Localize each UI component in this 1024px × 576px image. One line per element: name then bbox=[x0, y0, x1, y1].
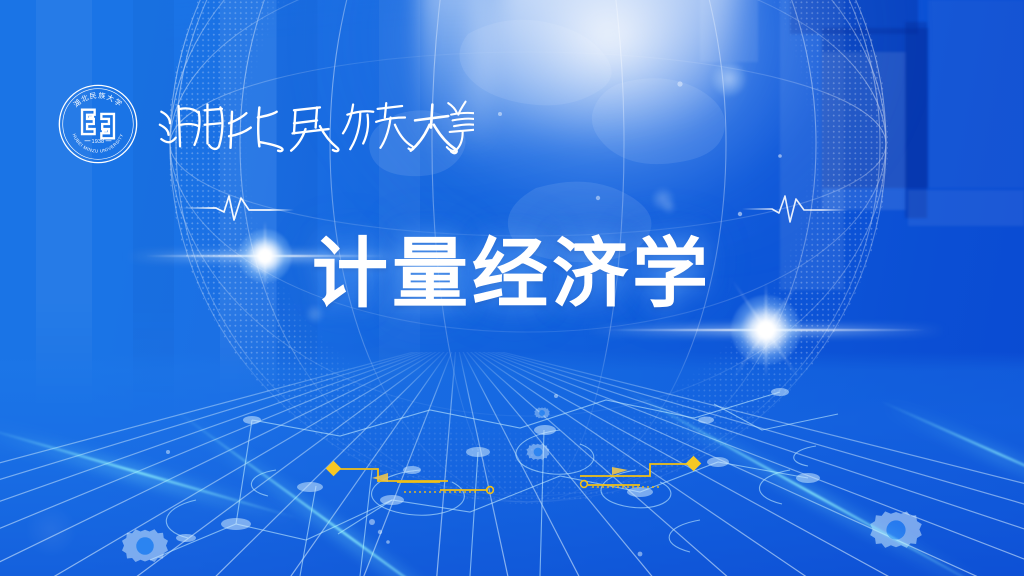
svg-text:1938: 1938 bbox=[92, 139, 105, 145]
perspective-grid-floor bbox=[0, 352, 1024, 576]
university-brand-header: 湖北民族大学 HUBEI MINZU UNIVERSITY 1938 bbox=[56, 82, 474, 166]
crest-top-arc-text: 湖北民族大学 bbox=[71, 91, 124, 109]
title-slide: 湖北民族大学 HUBEI MINZU UNIVERSITY 1938 bbox=[0, 0, 1024, 576]
university-wordmark-text: 湖北民族大学 bbox=[157, 153, 158, 155]
university-wordmark: 湖北民族大学 bbox=[157, 93, 474, 155]
title-block: 计量经济学 bbox=[0, 236, 1024, 312]
page-title: 计量经济学 bbox=[312, 236, 712, 312]
crest-founding-year: 1938 bbox=[85, 139, 112, 145]
skyline-block bbox=[928, 0, 1024, 188]
crest-center-motif bbox=[82, 110, 114, 139]
skyline-block bbox=[908, 190, 1024, 226]
svg-text:湖北民族大学: 湖北民族大学 bbox=[71, 91, 124, 109]
bokeh-orb bbox=[662, 200, 676, 214]
bokeh-orb bbox=[712, 62, 746, 96]
university-crest-icon: 湖北民族大学 HUBEI MINZU UNIVERSITY 1938 bbox=[56, 82, 140, 166]
